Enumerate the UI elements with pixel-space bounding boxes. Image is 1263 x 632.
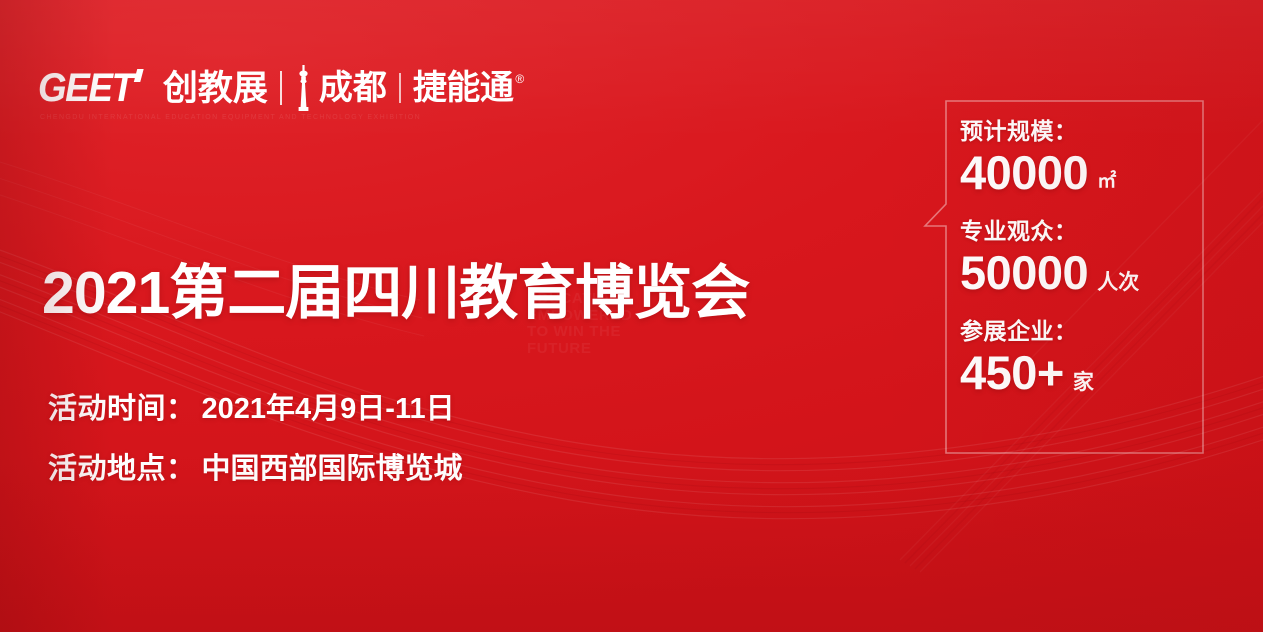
exhibition-promo-banner: EDUCATION EMPOWERED TO WIN THE FUTURE GE… — [0, 0, 1263, 632]
background-vignette — [0, 0, 1263, 632]
